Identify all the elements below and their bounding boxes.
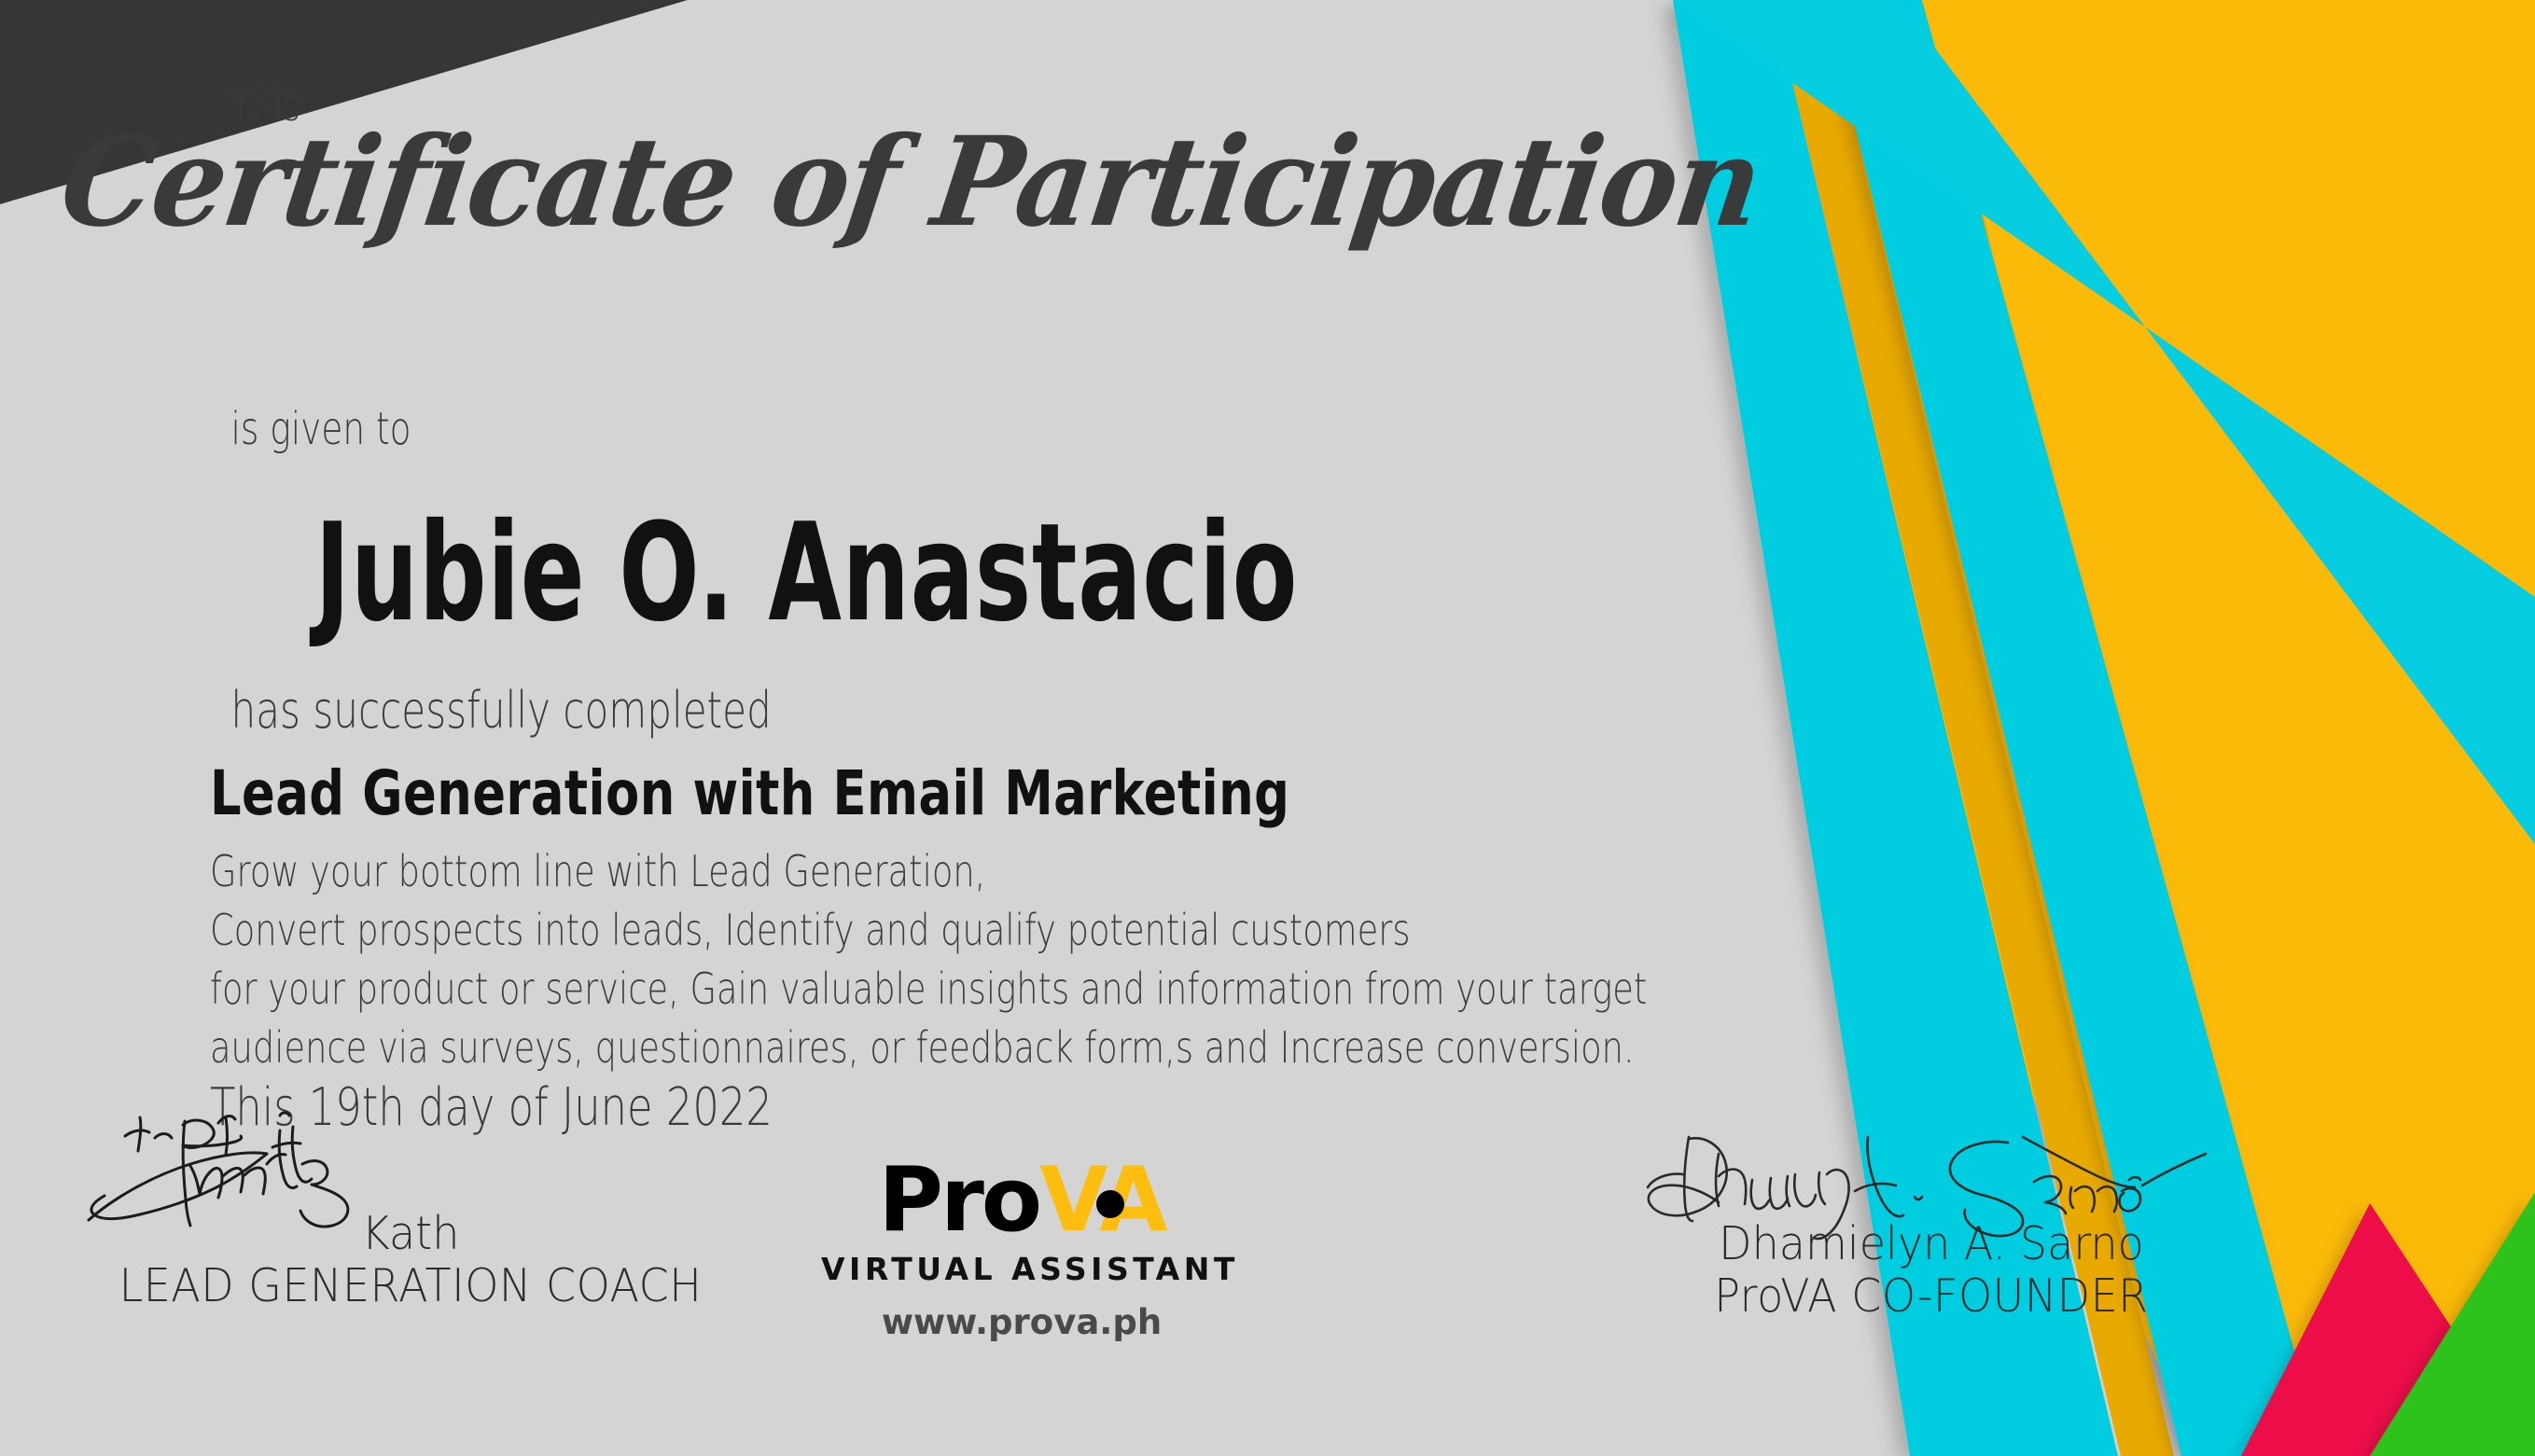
logo-tagline: VIRTUAL ASSISTANT [821, 1251, 1222, 1287]
signature-right-role: ProVA CO-FOUNDER [1607, 1270, 2256, 1323]
signature-block-right: Dhamielyn A. Sarno ProVA CO-FOUNDER [1586, 1133, 2277, 1323]
completion-label: has successfully completed [231, 681, 1869, 740]
course-description-line: Grow your bottom line with Lead Generati… [210, 842, 1889, 901]
logo-website: www.prova.ph [821, 1302, 1222, 1342]
signature-left-name: Kath [24, 1211, 796, 1256]
given-to-label: is given to [231, 403, 1869, 455]
logo-pro-text: Pro [878, 1149, 1039, 1252]
course-description-line: audience via surveys, questionnaires, or… [210, 1019, 1889, 1077]
recipient-name: Jubie O. Anastacio [315, 494, 1785, 652]
logo-va-text: VA [1039, 1149, 1165, 1252]
course-title: Lead Generation with Email Marketing [210, 757, 1889, 829]
certificate-canvas: This Certificate of Participation is giv… [0, 0, 2535, 1456]
certificate-content: This Certificate of Participation is giv… [0, 0, 2535, 1456]
course-description-line: Convert prospects into leads, Identify a… [210, 901, 1889, 960]
course-description: Grow your bottom line with Lead Generati… [210, 842, 1889, 1077]
signature-block-left: Kath LEAD GENERATION COACH [0, 1110, 821, 1312]
prova-logo: ProVA VIRTUAL ASSISTANT www.prova.ph [821, 1157, 1222, 1342]
signature-left-role: LEAD GENERATION COACH [24, 1260, 796, 1312]
certificate-title: Certificate of Participation [53, 112, 2046, 254]
course-description-line: for your product or service, Gain valuab… [210, 960, 1889, 1019]
signature-right-name: Dhamielyn A. Sarno [1607, 1221, 2256, 1267]
logo-dot-icon [1096, 1190, 1124, 1218]
logo-wordmark: ProVA [821, 1157, 1222, 1245]
